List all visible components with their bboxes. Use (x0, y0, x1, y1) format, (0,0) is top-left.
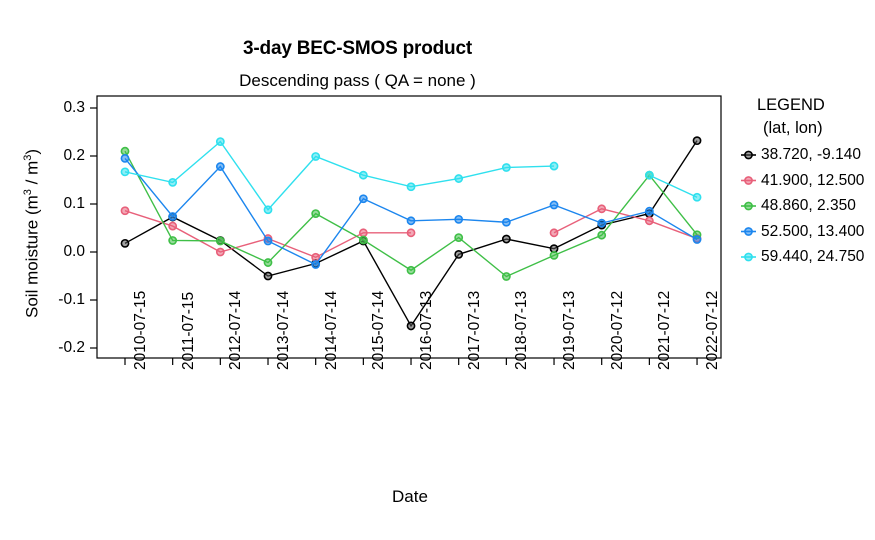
y-tick-label: -0.1 (30, 291, 85, 309)
data-point (312, 210, 319, 217)
data-point (598, 220, 605, 227)
data-point (407, 229, 414, 236)
y-tick-label: -0.2 (30, 339, 85, 357)
x-tick-label: 2017-07-13 (466, 291, 484, 370)
data-point (550, 252, 557, 259)
x-tick-label: 2022-07-12 (704, 291, 722, 370)
legend-entry-label: 52.500, 13.400 (761, 223, 864, 241)
data-point (646, 172, 653, 179)
data-point (121, 155, 128, 162)
data-point (217, 248, 224, 255)
plot-area (0, 0, 875, 540)
data-point (455, 175, 462, 182)
legend-marker (745, 202, 752, 209)
x-tick-label: 2015-07-14 (370, 291, 388, 370)
data-point (360, 195, 367, 202)
data-point (503, 273, 510, 280)
data-point (360, 172, 367, 179)
x-tick-label: 2016-07-13 (418, 291, 436, 370)
data-point (121, 207, 128, 214)
data-point (646, 208, 653, 215)
data-point (264, 272, 271, 279)
data-point (264, 237, 271, 244)
data-point (312, 261, 319, 268)
x-tick-label: 2010-07-15 (132, 291, 150, 370)
data-point (121, 240, 128, 247)
x-tick-label: 2021-07-12 (656, 291, 674, 370)
data-point (407, 217, 414, 224)
data-point (455, 251, 462, 258)
data-point (360, 229, 367, 236)
x-tick-label: 2011-07-15 (180, 292, 198, 370)
data-point (550, 201, 557, 208)
x-tick-label: 2018-07-13 (513, 291, 531, 370)
data-point (217, 237, 224, 244)
data-point (693, 236, 700, 243)
data-point (407, 183, 414, 190)
data-point (169, 237, 176, 244)
data-point (503, 164, 510, 171)
data-point (312, 153, 319, 160)
x-tick-label: 2020-07-12 (609, 291, 627, 370)
data-point (503, 235, 510, 242)
legend-entry-label: 59.440, 24.750 (761, 248, 864, 266)
data-point (550, 229, 557, 236)
data-point (121, 168, 128, 175)
data-point (169, 179, 176, 186)
legend-marker (745, 228, 752, 235)
data-point (646, 217, 653, 224)
x-tick-label: 2012-07-14 (227, 291, 245, 370)
data-point (407, 267, 414, 274)
data-point (503, 219, 510, 226)
x-tick-label: 2013-07-14 (275, 291, 293, 370)
y-tick-label: 0.1 (30, 195, 85, 213)
legend-markers (741, 151, 756, 260)
legend-marker (745, 253, 752, 260)
data-point (360, 236, 367, 243)
data-point (407, 322, 414, 329)
data-point (169, 213, 176, 220)
data-point (455, 216, 462, 223)
legend-subtitle: (lat, lon) (763, 119, 823, 138)
data-point (693, 137, 700, 144)
legend-entry-label: 41.900, 12.500 (761, 172, 864, 190)
data-point (217, 163, 224, 170)
data-point (217, 138, 224, 145)
legend-marker (745, 151, 752, 158)
legend-entry-label: 48.860, 2.350 (761, 197, 856, 215)
data-point (455, 234, 462, 241)
data-point (169, 222, 176, 229)
data-point (598, 232, 605, 239)
data-point (598, 205, 605, 212)
data-point (693, 194, 700, 201)
data-point (550, 162, 557, 169)
y-tick-label: 0.3 (30, 99, 85, 117)
data-point (312, 254, 319, 261)
data-point (264, 259, 271, 266)
chart-page: 3-day BEC-SMOS product Descending pass (… (0, 0, 875, 540)
y-tick-label: 0.0 (30, 243, 85, 261)
legend-title: LEGEND (757, 96, 825, 115)
data-point (264, 206, 271, 213)
legend-entry-label: 38.720, -9.140 (761, 146, 861, 164)
legend-marker (745, 177, 752, 184)
data-point (121, 148, 128, 155)
y-tick-label: 0.2 (30, 147, 85, 165)
x-tick-label: 2014-07-14 (323, 291, 341, 370)
x-tick-label: 2019-07-13 (561, 291, 579, 370)
